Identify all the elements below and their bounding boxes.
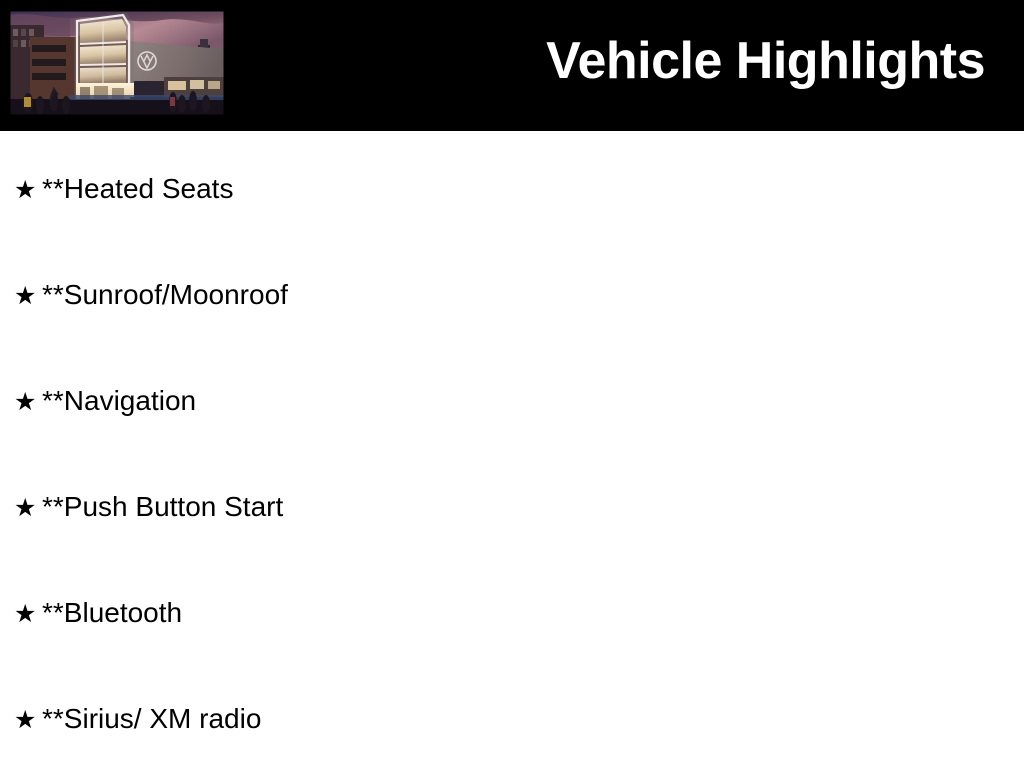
list-item-label: **Bluetooth [42,596,182,630]
star-bullet-icon: ★ [14,597,42,631]
star-bullet-icon: ★ [14,279,42,313]
list-item: ★ **Navigation [14,384,196,419]
star-bullet-icon: ★ [14,385,42,419]
star-bullet-icon: ★ [14,703,42,737]
list-item: ★ **Heated Seats [14,172,233,207]
slide-header-band: Vehicle Highlights [0,0,1024,131]
list-item-label: **Navigation [42,384,196,418]
star-bullet-icon: ★ [14,491,42,525]
list-item: ★ **Push Button Start [14,490,283,525]
list-item: ★ **Sunroof/Moonroof [14,278,288,313]
list-item: ★ **Bluetooth [14,596,182,631]
list-item-label: **Sirius/ XM radio [42,702,261,736]
presentation-slide: Vehicle Highlights ★ **Heated Seats ★ **… [0,0,1024,768]
page-title: Vehicle Highlights [546,30,985,92]
list-item: ★ **Sirius/ XM radio [14,702,261,737]
star-bullet-icon: ★ [14,173,42,207]
vehicle-highlights-list: ★ **Heated Seats ★ **Sunroof/Moonroof ★ … [0,131,1024,768]
list-item-label: **Heated Seats [42,172,233,206]
list-item-label: **Push Button Start [42,490,283,524]
dealership-illustration [10,11,224,115]
vw-dealership-rendering-image [10,11,224,115]
list-item-label: **Sunroof/Moonroof [42,278,288,312]
